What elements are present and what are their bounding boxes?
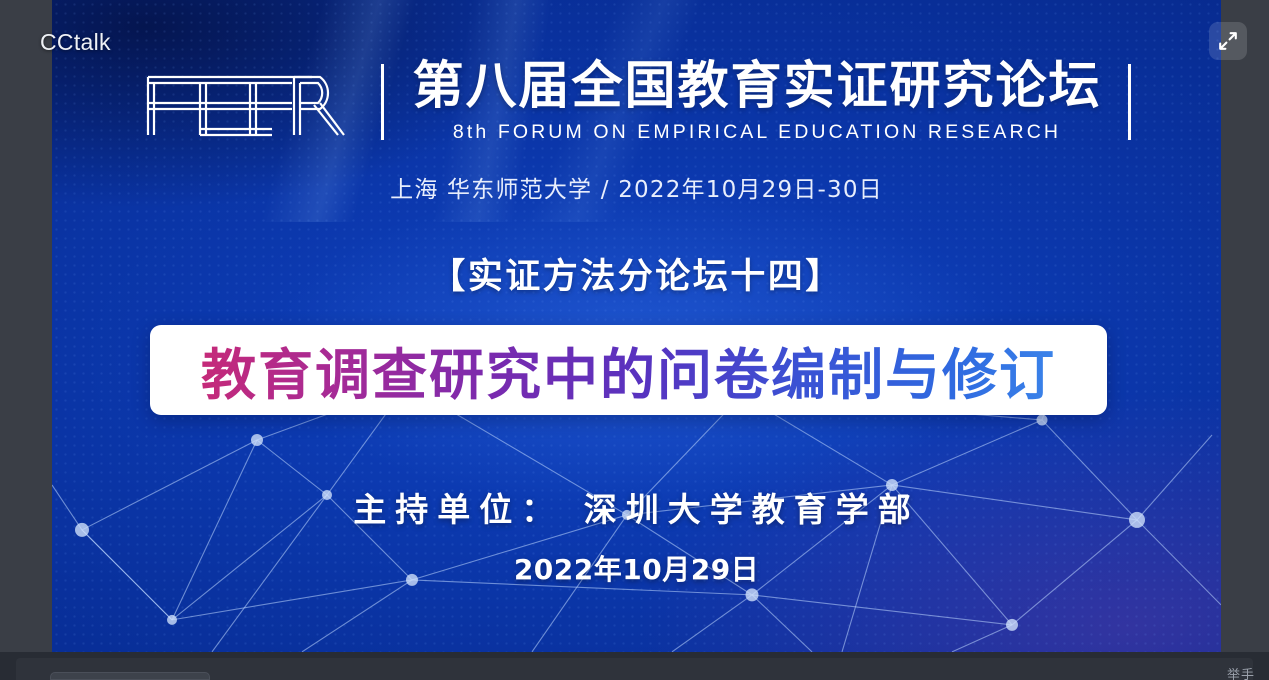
logo-divider-left bbox=[381, 64, 384, 140]
cctalk-watermark: CCtalk bbox=[40, 29, 111, 56]
logo-divider-right bbox=[1128, 64, 1131, 140]
subforum-label: 【实证方法分论坛十四】 bbox=[52, 248, 1221, 299]
expand-arrows-icon bbox=[1218, 31, 1238, 51]
chrome-right-gutter bbox=[1221, 0, 1269, 652]
forum-title-en: 8th FORUM ON EMPIRICAL EDUCATION RESEARC… bbox=[453, 121, 1061, 144]
session-date: 2022年10月29日 bbox=[52, 548, 1221, 588]
feer-logo-icon bbox=[142, 63, 357, 141]
slide-header: 第八届全国教育实证研究论坛 8th FORUM ON EMPIRICAL EDU… bbox=[52, 52, 1221, 152]
venue-and-date-line: 上海 华东师范大学 / 2022年10月29日-30日 bbox=[52, 170, 1221, 204]
session-title-text: 教育调查研究中的问卷编制与修订 bbox=[201, 330, 1056, 410]
title-block: 第八届全国教育实证研究论坛 8th FORUM ON EMPIRICAL EDU… bbox=[412, 60, 1101, 143]
host-organization: 主持单位： 深圳大学教育学部 bbox=[52, 483, 1221, 531]
forum-title-cn: 第八届全国教育实证研究论坛 bbox=[412, 60, 1101, 114]
raise-hand-button[interactable]: 举手 bbox=[1227, 668, 1255, 680]
presentation-slide[interactable]: 第八届全国教育实证研究论坛 8th FORUM ON EMPIRICAL EDU… bbox=[52, 0, 1221, 652]
fullscreen-button[interactable] bbox=[1209, 22, 1247, 60]
chrome-left-gutter bbox=[0, 0, 52, 652]
session-title-banner: 教育调查研究中的问卷编制与修订 bbox=[150, 325, 1107, 415]
cctalk-player-window: 第八届全国教育实证研究论坛 8th FORUM ON EMPIRICAL EDU… bbox=[0, 0, 1269, 680]
chat-input-field[interactable] bbox=[50, 672, 210, 680]
